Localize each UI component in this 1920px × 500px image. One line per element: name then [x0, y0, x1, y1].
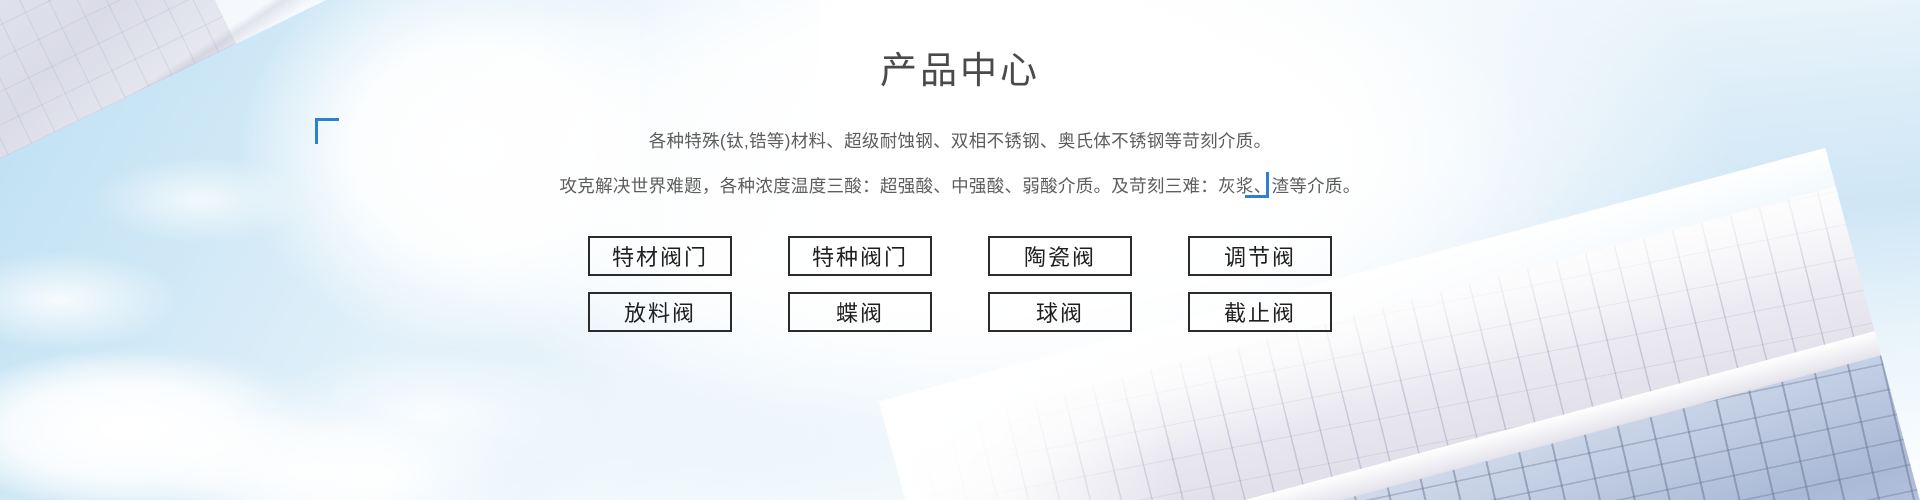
- product-center-banner: 产品中心 各种特殊(钛,锆等)材料、超级耐蚀钢、双相不锈钢、奥氏体不锈钢等苛刻介…: [0, 0, 1920, 500]
- description-line-2: 攻克解决世界难题，各种浓度温度三酸：超强酸、中强酸、弱酸介质。及苛刻三难：灰浆、…: [0, 170, 1920, 203]
- page-title: 产品中心: [0, 48, 1920, 94]
- description-line-1: 各种特殊(钛,锆等)材料、超级耐蚀钢、双相不锈钢、奥氏体不锈钢等苛刻介质。: [0, 125, 1920, 158]
- category-button-tiaojie-fa[interactable]: 调节阀: [1188, 236, 1332, 276]
- category-button-die-fa[interactable]: 蝶阀: [788, 292, 932, 332]
- category-button-tecai-famen[interactable]: 特材阀门: [588, 236, 732, 276]
- description-block: 各种特殊(钛,锆等)材料、超级耐蚀钢、双相不锈钢、奥氏体不锈钢等苛刻介质。 攻克…: [0, 125, 1920, 203]
- category-button-group: 特材阀门 特种阀门 陶瓷阀 调节阀 放料阀 蝶阀 球阀 截止阀: [0, 236, 1920, 332]
- category-row-2: 放料阀 蝶阀 球阀 截止阀: [588, 292, 1332, 332]
- category-button-taoci-fa[interactable]: 陶瓷阀: [988, 236, 1132, 276]
- category-button-qiu-fa[interactable]: 球阀: [988, 292, 1132, 332]
- category-button-tezhong-famen[interactable]: 特种阀门: [788, 236, 932, 276]
- banner-content: 产品中心 各种特殊(钛,锆等)材料、超级耐蚀钢、双相不锈钢、奥氏体不锈钢等苛刻介…: [0, 0, 1920, 500]
- category-button-fangliao-fa[interactable]: 放料阀: [588, 292, 732, 332]
- category-button-jiezhi-fa[interactable]: 截止阀: [1188, 292, 1332, 332]
- category-row-1: 特材阀门 特种阀门 陶瓷阀 调节阀: [588, 236, 1332, 276]
